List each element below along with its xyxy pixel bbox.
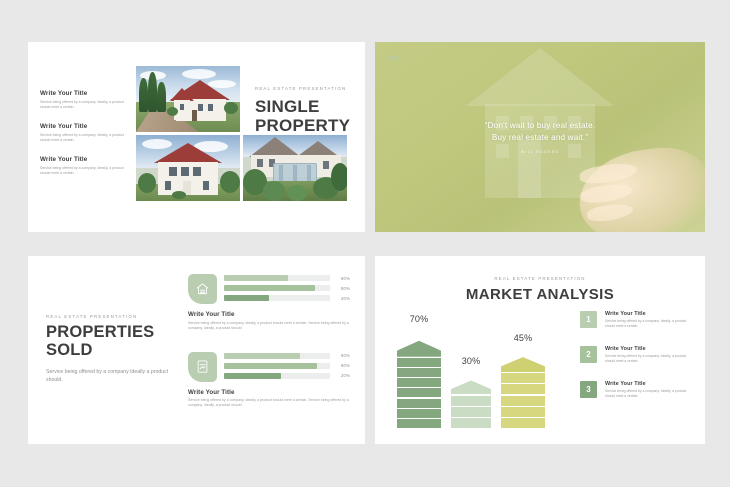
chart-segment: [451, 418, 491, 428]
legend-item: 2 Write Your Title Service being offered…: [580, 346, 692, 363]
quote-block: “Don't wait to buy real estate. Buy real…: [375, 120, 705, 154]
legend-title: Write Your Title: [605, 311, 692, 317]
chart-segment: [501, 407, 545, 417]
house-icon: [188, 274, 217, 304]
chart-segment: [397, 388, 441, 397]
slide1-title-block: REAL ESTATE PRESENTATION SINGLE PROPERTY: [255, 86, 360, 135]
quote-line-2: Buy real estate and wait.”: [375, 132, 705, 144]
chart-column-cap: [451, 380, 491, 394]
chart-segment: [501, 396, 545, 406]
feature-desc: Service being offered by a company. Idea…: [40, 166, 132, 176]
bar-percent: 60%: [330, 276, 350, 281]
chart-segment: [397, 399, 441, 408]
bar-fill: [224, 285, 315, 291]
stat-group: 60% 80% 20%: [188, 274, 350, 331]
chart-column-label: 45%: [514, 333, 533, 343]
feature-title: Write Your Title: [40, 156, 132, 163]
bar-list: 60% 80% 20%: [224, 352, 350, 379]
chart-column: 70%: [397, 336, 441, 428]
chart-column: 30%: [451, 378, 491, 428]
chart-column-cap: [501, 357, 545, 372]
slide1-title-line2: PROPERTY: [255, 116, 360, 135]
slide3-eyebrow: REAL ESTATE PRESENTATION: [46, 314, 174, 319]
bar-track: [224, 373, 330, 379]
feature-block: Write Your Title Service being offered b…: [40, 123, 132, 143]
slide-grid-canvas: Write Your Title Service being offered b…: [0, 0, 730, 487]
feature-block: Write Your Title Service being offered b…: [40, 90, 132, 110]
stat-title: Write Your Title: [188, 389, 350, 396]
house-photo-white-gable: [136, 135, 240, 201]
bar-track: [224, 295, 330, 301]
legend-item: 3 Write Your Title Service being offered…: [580, 381, 692, 398]
market-analysis-chart: 70% 30% 45%: [393, 316, 568, 428]
market-analysis-legend: 1 Write Your Title Service being offered…: [580, 311, 692, 399]
slide3-title-line1: PROPERTIES: [46, 324, 174, 342]
chart-segment: [501, 418, 545, 428]
slide-quote[interactable]: LOGO “Don't wait to buy real estate. Buy…: [375, 42, 705, 232]
chart-segment: [397, 358, 441, 367]
slide4-eyebrow: REAL ESTATE PRESENTATION: [375, 276, 705, 281]
bar-fill: [224, 363, 317, 369]
stat-group: 60% 80% 20%: [188, 352, 350, 409]
bar-row: 80%: [224, 363, 350, 369]
document-icon: [188, 352, 217, 382]
legend-title: Write Your Title: [605, 381, 692, 387]
bar-track: [224, 353, 330, 359]
bar-track: [224, 285, 330, 291]
chart-segment: [397, 378, 441, 387]
legend-desc: Service being offered by a company. Idea…: [605, 354, 692, 363]
chart-column: 45%: [501, 355, 545, 428]
chart-segment: [397, 419, 441, 428]
legend-number: 1: [580, 311, 597, 328]
legend-number: 2: [580, 346, 597, 363]
bar-fill: [224, 353, 300, 359]
slide3-subtitle: Service being offered by a company Ideal…: [46, 368, 174, 384]
feature-title: Write Your Title: [40, 90, 132, 97]
quote-line-1: “Don't wait to buy real estate.: [375, 120, 705, 132]
bar-row: 80%: [224, 285, 350, 291]
chart-segment: [397, 409, 441, 418]
legend-number: 3: [580, 381, 597, 398]
bar-percent: 20%: [330, 373, 350, 378]
bar-fill: [224, 295, 269, 301]
chart-segment: [501, 373, 545, 383]
bar-track: [224, 363, 330, 369]
chart-column-cap: [397, 341, 441, 357]
feature-block: Write Your Title Service being offered b…: [40, 156, 132, 176]
slide-properties-sold[interactable]: REAL ESTATE PRESENTATION PROPERTIES SOLD…: [28, 256, 365, 444]
slide2-logo: LOGO: [383, 56, 401, 62]
bar-list: 60% 80% 20%: [224, 274, 350, 301]
bar-percent: 80%: [330, 286, 350, 291]
slide-market-analysis[interactable]: REAL ESTATE PRESENTATION MARKET ANALYSIS…: [375, 256, 705, 444]
chart-segment: [501, 384, 545, 394]
slide1-eyebrow: REAL ESTATE PRESENTATION: [255, 86, 360, 91]
bar-percent: 60%: [330, 353, 350, 358]
slide1-title-line1: SINGLE: [255, 97, 360, 116]
chart-segment: [451, 396, 491, 406]
house-photo-red-roof-villa: [136, 66, 240, 132]
bar-percent: 80%: [330, 363, 350, 368]
chart-column-label: 70%: [410, 314, 429, 324]
slide4-title-block: REAL ESTATE PRESENTATION MARKET ANALYSIS: [375, 276, 705, 304]
stat-desc: Service being offered by a company. Idea…: [188, 398, 350, 408]
bar-row: 60%: [224, 353, 350, 359]
legend-desc: Service being offered by a company. Idea…: [605, 389, 692, 398]
house-photo-conservatory: [243, 135, 347, 201]
legend-title: Write Your Title: [605, 346, 692, 352]
slide3-stats-column: 60% 80% 20%: [188, 274, 350, 408]
legend-item: 1 Write Your Title Service being offered…: [580, 311, 692, 328]
bar-row: 20%: [224, 373, 350, 379]
slide4-title: MARKET ANALYSIS: [375, 285, 705, 304]
chart-column-label: 30%: [462, 356, 481, 366]
quote-author: WILL ROGERS: [375, 150, 705, 154]
legend-desc: Service being offered by a company. Idea…: [605, 319, 692, 328]
slide3-title-block: REAL ESTATE PRESENTATION PROPERTIES SOLD…: [46, 314, 174, 384]
chart-segment: [397, 368, 441, 377]
feature-desc: Service being offered by a company. Idea…: [40, 133, 132, 143]
feature-desc: Service being offered by a company. Idea…: [40, 100, 132, 110]
chart-segment: [451, 407, 491, 417]
bar-row: 20%: [224, 295, 350, 301]
bar-track: [224, 275, 330, 281]
stat-desc: Service being offered by a company. Idea…: [188, 321, 350, 331]
slide1-text-column: Write Your Title Service being offered b…: [40, 90, 132, 176]
slide3-title-line2: SOLD: [46, 342, 174, 360]
feature-title: Write Your Title: [40, 123, 132, 130]
slide-single-property[interactable]: Write Your Title Service being offered b…: [28, 42, 365, 232]
bar-percent: 20%: [330, 296, 350, 301]
bar-fill: [224, 373, 281, 379]
bar-row: 60%: [224, 275, 350, 281]
stat-title: Write Your Title: [188, 311, 350, 318]
bar-fill: [224, 275, 288, 281]
